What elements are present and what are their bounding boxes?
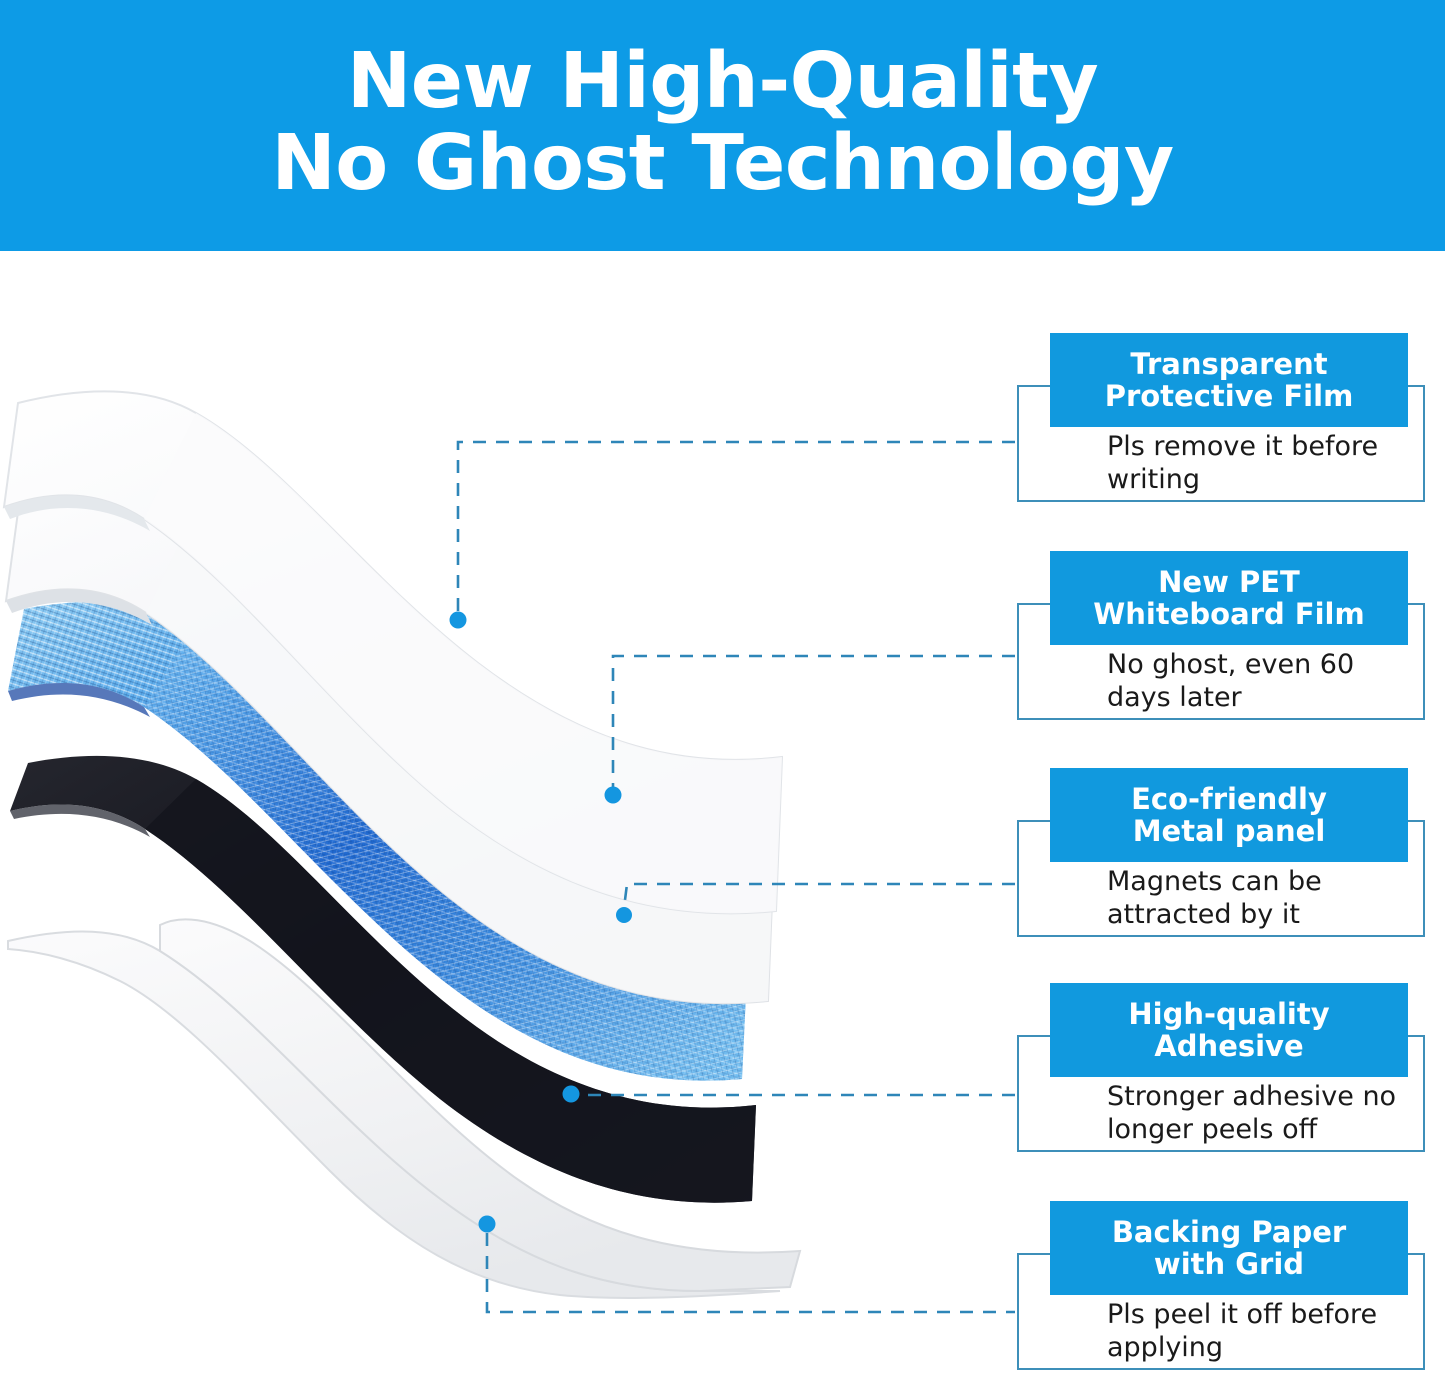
page-title: New High-Quality No Ghost Technology — [123, 41, 1323, 210]
callout-title-line-1: New PET — [1059, 566, 1399, 598]
callout-title-line-1: High-quality — [1059, 998, 1399, 1030]
callout-description: Pls peel it off before applying — [1107, 1299, 1407, 1365]
callout-description: Stronger adhesive no longer peels off — [1107, 1081, 1407, 1147]
callout-title-line-1: Transparent — [1059, 348, 1399, 380]
callout-title-line-1: Backing Paper — [1059, 1216, 1399, 1248]
callout-title-line-1: Eco-friendly — [1059, 783, 1399, 815]
infographic-page: New High-Quality No Ghost Technology — [0, 0, 1445, 1379]
callout-title-line-2: with Grid — [1059, 1248, 1399, 1280]
callout-title-line-2: Adhesive — [1059, 1030, 1399, 1062]
page-title-line-2: No Ghost Technology — [123, 123, 1323, 205]
callout-title: Eco-friendly Metal panel — [1059, 783, 1399, 848]
callout-header: Backing Paper with Grid — [1050, 1201, 1408, 1295]
callout-header: Transparent Protective Film — [1050, 333, 1408, 427]
callout-title: Transparent Protective Film — [1059, 348, 1399, 413]
callout-description: Pls remove it before writing — [1107, 431, 1407, 497]
callout-title: New PET Whiteboard Film — [1059, 566, 1399, 631]
callout-description: Magnets can be attracted by it — [1107, 866, 1407, 932]
callout-title-line-2: Whiteboard Film — [1059, 598, 1399, 630]
callout-title-line-2: Protective Film — [1059, 380, 1399, 412]
callout-header: New PET Whiteboard Film — [1050, 551, 1408, 645]
layered-product-illustration — [0, 251, 1010, 1379]
callout-title: High-quality Adhesive — [1059, 998, 1399, 1063]
callout-title-line-2: Metal panel — [1059, 815, 1399, 847]
callout-description: No ghost, even 60 days later — [1107, 649, 1407, 715]
header-banner: New High-Quality No Ghost Technology — [0, 0, 1445, 251]
callout-header: Eco-friendly Metal panel — [1050, 768, 1408, 862]
callout-title: Backing Paper with Grid — [1059, 1216, 1399, 1281]
callout-header: High-quality Adhesive — [1050, 983, 1408, 1077]
page-title-line-1: New High-Quality — [123, 41, 1323, 123]
